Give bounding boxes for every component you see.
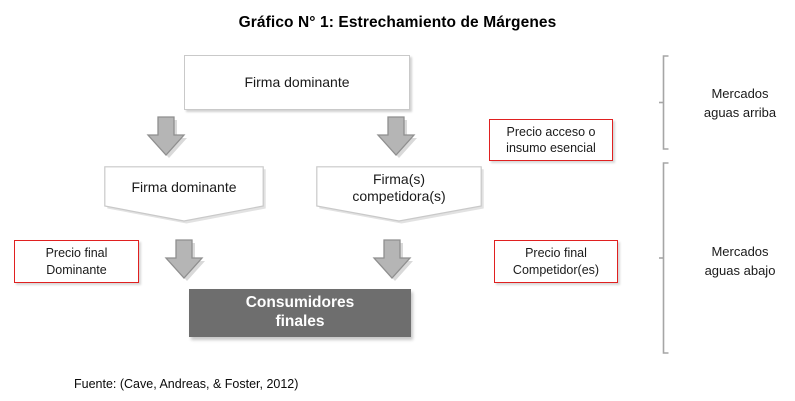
arrow-top-left-down-icon <box>138 113 194 161</box>
node-top-dominant-firm-label: Firma dominante <box>244 74 349 92</box>
callout-final-price-dominant-text: Precio final Dominante <box>46 245 108 278</box>
node-competitor-firms-line2: competidora(s) <box>352 188 445 204</box>
bracket-upstream-icon <box>655 55 675 150</box>
bracket-upstream-line1: Mercados <box>711 86 768 101</box>
footer-note: Fuente: (Cave, Andreas, & Foster, 2012) … <box>74 357 298 401</box>
callout-access-price[interactable]: Precio acceso o insumo esencial <box>489 119 613 161</box>
node-final-consumers[interactable]: Consumidores finales <box>189 289 411 337</box>
callout-final-price-dominant-line2: Dominante <box>46 263 106 277</box>
arrow-bottom-left-down-icon <box>156 236 212 284</box>
chart-title: Gráfico N° 1: Estrechamiento de Márgenes <box>0 14 795 32</box>
node-left-dominant-firm-label: Firma dominante <box>104 166 264 210</box>
node-competitor-firms-label: Firma(s) competidora(s) <box>316 166 482 210</box>
diagram-canvas: Gráfico N° 1: Estrechamiento de Márgenes… <box>0 0 795 401</box>
node-competitor-firms[interactable]: Firma(s) competidora(s) <box>316 166 482 222</box>
arrow-top-right-down-icon <box>368 113 424 161</box>
bracket-upstream-line2: aguas arriba <box>704 105 776 120</box>
bracket-downstream-line2: aguas abajo <box>705 263 776 278</box>
node-top-dominant-firm[interactable]: Firma dominante <box>184 55 410 110</box>
node-left-dominant-firm[interactable]: Firma dominante <box>104 166 264 222</box>
callout-final-price-competitor-text: Precio final Competidor(es) <box>513 245 599 278</box>
callout-access-price-line2: insumo esencial <box>506 141 596 155</box>
node-competitor-firms-line1: Firma(s) <box>373 171 425 187</box>
callout-access-price-text: Precio acceso o insumo esencial <box>506 124 596 157</box>
bracket-downstream-line1: Mercados <box>711 244 768 259</box>
callout-final-price-dominant[interactable]: Precio final Dominante <box>14 240 139 283</box>
node-final-consumers-line1: Consumidores <box>246 294 355 311</box>
node-final-consumers-text: Consumidores finales <box>246 294 355 331</box>
bracket-downstream-icon <box>655 162 675 354</box>
callout-final-price-competitor[interactable]: Precio final Competidor(es) <box>494 240 618 283</box>
bracket-downstream-label: Mercados aguas abajo <box>688 243 792 281</box>
callout-final-price-competitor-line2: Competidor(es) <box>513 263 599 277</box>
callout-final-price-dominant-line1: Precio final <box>46 246 108 260</box>
callout-access-price-line1: Precio acceso o <box>507 125 596 139</box>
arrow-bottom-right-down-icon <box>364 236 420 284</box>
bracket-upstream-label: Mercados aguas arriba <box>688 85 792 123</box>
node-final-consumers-line2: finales <box>275 313 324 330</box>
footer-source: Fuente: (Cave, Andreas, & Foster, 2012) <box>74 375 298 393</box>
callout-final-price-competitor-line1: Precio final <box>525 246 587 260</box>
